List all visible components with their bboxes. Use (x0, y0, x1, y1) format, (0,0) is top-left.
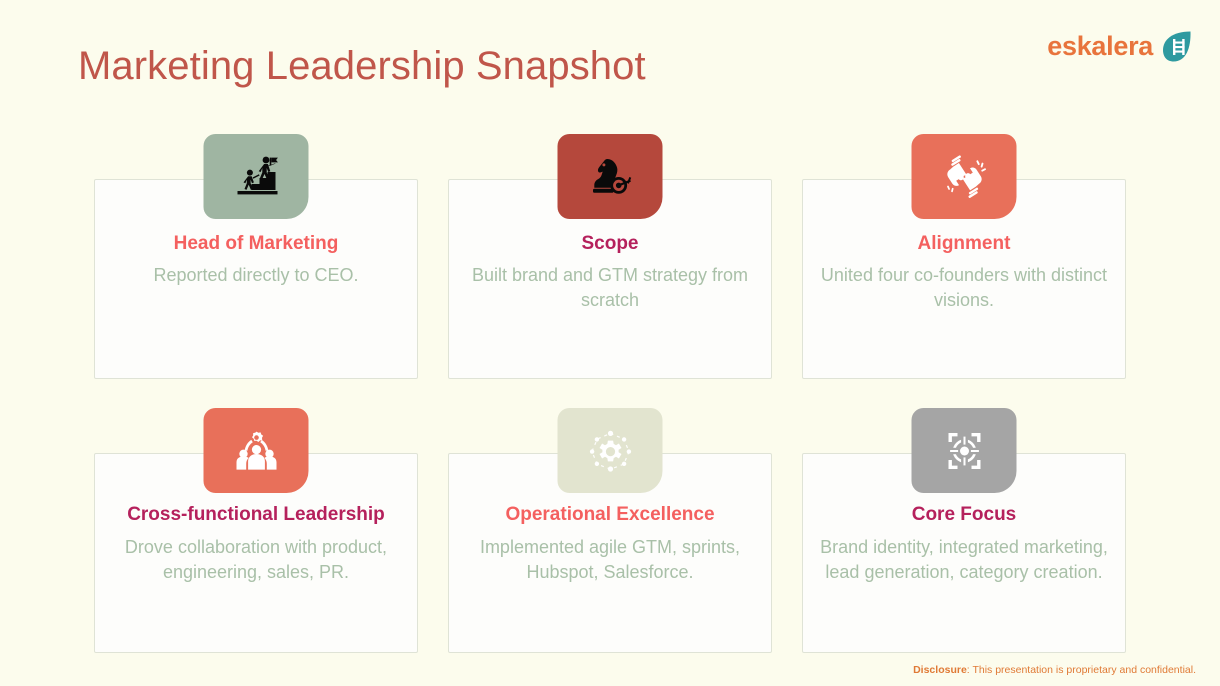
card-description: Implemented agile GTM, sprints, Hubspot,… (462, 535, 758, 585)
leaf-ladder-logo-icon (1162, 30, 1192, 63)
snapshot-card-operational-excellence[interactable]: Operational Excellence Implemented agile… (448, 453, 772, 653)
card-text: Operational Excellence Implemented agile… (448, 503, 772, 585)
snapshot-card-alignment[interactable]: Alignment United four co-founders with d… (802, 179, 1126, 379)
card-description: Drove collaboration with product, engine… (108, 535, 404, 585)
snapshot-card-grid: Head of Marketing Reported directly to C… (94, 179, 1126, 653)
card-title: Scope (462, 232, 758, 256)
stairs-climb-flag-icon (204, 134, 309, 219)
card-title: Cross-functional Leadership (108, 503, 404, 527)
card-title: Head of Marketing (108, 232, 404, 256)
card-text: Core Focus Brand identity, integrated ma… (802, 503, 1126, 585)
snapshot-card-core-focus[interactable]: Core Focus Brand identity, integrated ma… (802, 453, 1126, 653)
brand-name: eskalera (1047, 31, 1153, 62)
disclosure-text: This presentation is proprietary and con… (970, 664, 1196, 676)
card-text: Scope Built brand and GTM strategy from … (448, 232, 772, 313)
slide: Marketing Leadership Snapshot eskalera (0, 0, 1220, 686)
gear-network-icon (558, 408, 663, 493)
card-title: Core Focus (816, 503, 1112, 527)
card-title: Alignment (816, 232, 1112, 256)
card-description: Built brand and GTM strategy from scratc… (462, 263, 758, 313)
brand-logo: eskalera (1047, 30, 1192, 63)
card-description: Reported directly to CEO. (108, 263, 404, 288)
puzzle-hands-icon (912, 134, 1017, 219)
card-text: Alignment United four co-founders with d… (802, 232, 1126, 313)
snapshot-card-cross-functional-leadership[interactable]: Cross-functional Leadership Drove collab… (94, 453, 418, 653)
card-title: Operational Excellence (462, 503, 758, 527)
disclosure-label: Disclosure (913, 664, 967, 676)
chess-knight-target-icon (558, 134, 663, 219)
snapshot-card-head-of-marketing[interactable]: Head of Marketing Reported directly to C… (94, 179, 418, 379)
disclosure-footer: Disclosure: This presentation is proprie… (913, 664, 1196, 676)
card-description: United four co-founders with distinct vi… (816, 263, 1112, 313)
crosshair-target-icon (912, 408, 1017, 493)
card-text: Cross-functional Leadership Drove collab… (94, 503, 418, 585)
card-description: Brand identity, integrated marketing, le… (816, 535, 1112, 585)
slide-header: Marketing Leadership Snapshot eskalera (0, 0, 1220, 120)
team-gear-icon (204, 408, 309, 493)
card-text: Head of Marketing Reported directly to C… (94, 232, 418, 288)
snapshot-card-scope[interactable]: Scope Built brand and GTM strategy from … (448, 179, 772, 379)
page-title: Marketing Leadership Snapshot (78, 44, 646, 89)
